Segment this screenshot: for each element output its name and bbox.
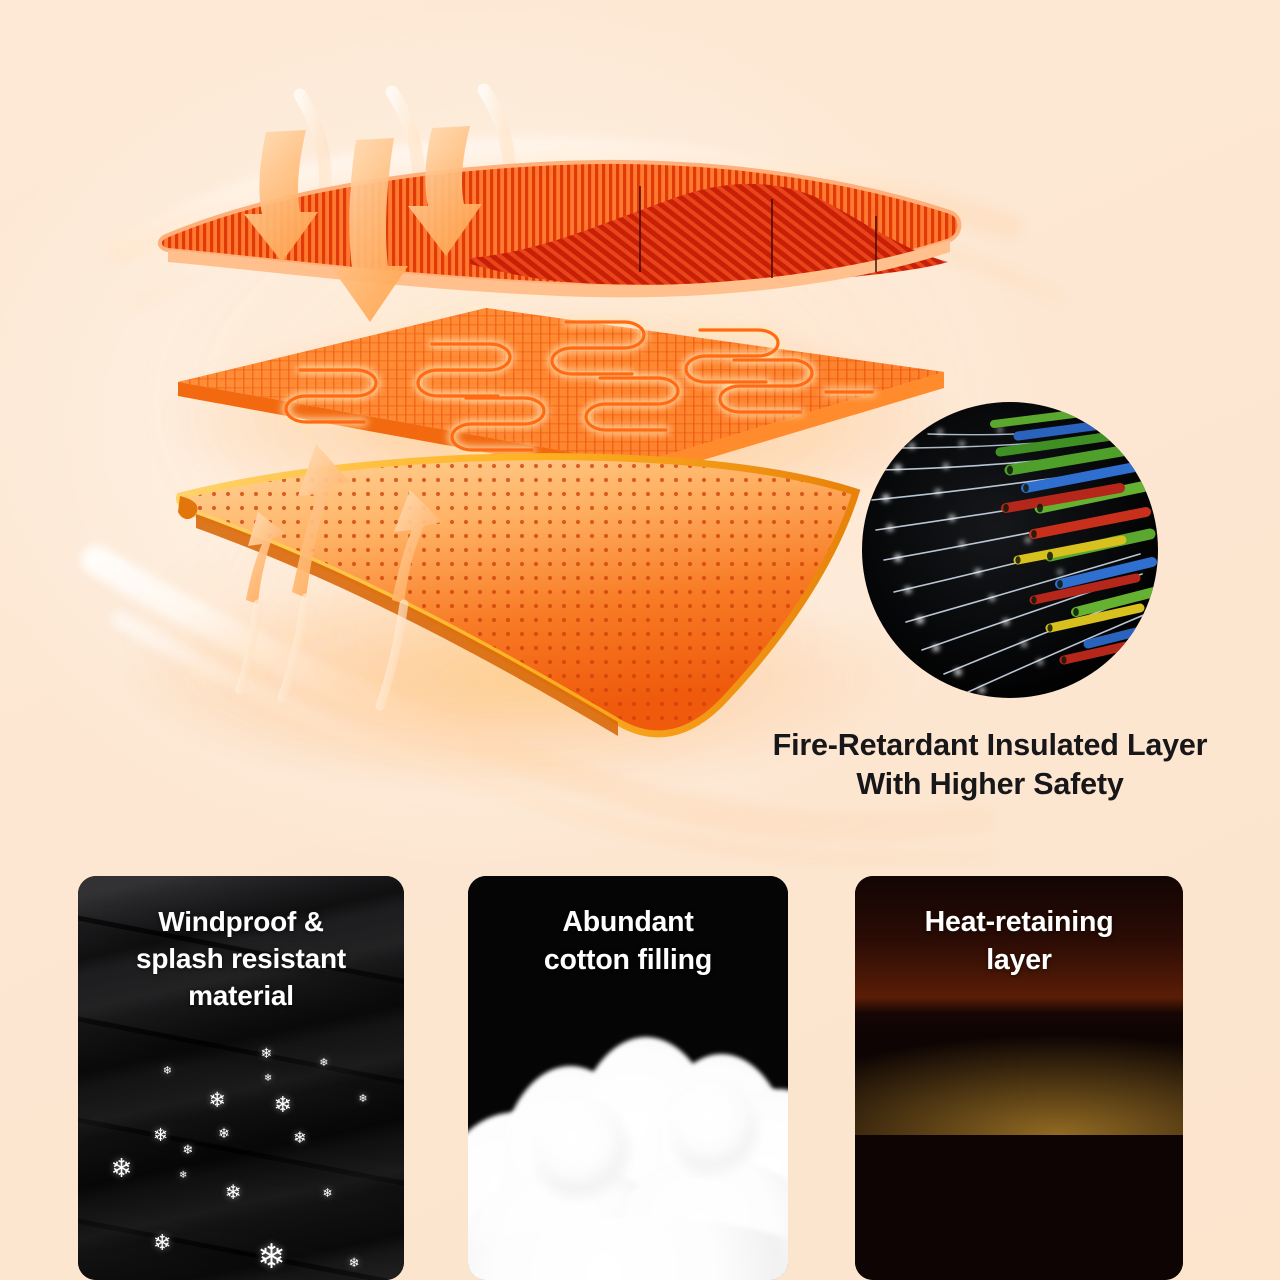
snowflake-icon: ❄: [319, 1058, 328, 1069]
snowflake-icon: ❄: [264, 1074, 272, 1084]
headline-line-2: With Higher Safety: [700, 765, 1280, 804]
feature-card-windproof-title: Windproof & splash resistant material: [78, 904, 404, 1015]
card3-line2: layer: [986, 944, 1052, 976]
feature-card-cotton-title: Abundant cotton filling: [468, 904, 788, 979]
headline-line-1: Fire-Retardant Insulated Layer: [773, 728, 1208, 762]
snowflake-icon: ❄: [218, 1126, 230, 1140]
snowflake-icon: ❄: [153, 1126, 168, 1144]
snowflake-icon: ❄: [274, 1094, 292, 1116]
card2-line2: cotton filling: [544, 944, 712, 976]
snowflake-icon: ❄: [323, 1187, 333, 1199]
snowflake-icon: ❄: [358, 1094, 367, 1105]
fiber-optic-inset: [862, 402, 1158, 698]
cotton-fibre-mass: [468, 1013, 788, 1280]
card1-line1: Windproof &: [158, 906, 324, 937]
feature-card-windproof[interactable]: Windproof & splash resistant material ❄ …: [78, 876, 404, 1280]
snowflake-icon: ❄: [349, 1256, 360, 1269]
infographic-root: Fire-Retardant Insulated Layer With High…: [0, 0, 1280, 1280]
fire-retardant-headline: Fire-Retardant Insulated Layer With High…: [700, 726, 1280, 805]
snowflake-icon: ❄: [163, 1066, 172, 1077]
feature-card-heat-retaining[interactable]: Heat-retaining layer: [855, 876, 1183, 1280]
heat-glow: [855, 973, 1183, 1135]
snowflake-icon: ❄: [257, 1240, 286, 1274]
card1-line2: splash resistant: [136, 943, 346, 974]
snowflake-icon: ❄: [179, 1171, 187, 1181]
feature-card-row: Windproof & splash resistant material ❄ …: [0, 872, 1280, 1280]
snowflake-icon: ❄: [153, 1232, 171, 1254]
feature-card-cotton[interactable]: Abundant cotton filling: [468, 876, 788, 1280]
snowflake-icon: ❄: [225, 1183, 242, 1203]
feature-card-heat-retaining-title: Heat-retaining layer: [855, 904, 1183, 979]
card2-line1: Abundant: [562, 906, 693, 938]
snowflake-icon: ❄: [208, 1090, 226, 1111]
snowflake-icon: ❄: [293, 1131, 306, 1147]
snowflake-icon: ❄: [261, 1046, 273, 1060]
snowflake-icon: ❄: [111, 1155, 133, 1181]
snowflake-icon: ❄: [182, 1143, 193, 1156]
card3-line1: Heat-retaining: [925, 906, 1114, 938]
card1-line3: material: [188, 980, 294, 1011]
